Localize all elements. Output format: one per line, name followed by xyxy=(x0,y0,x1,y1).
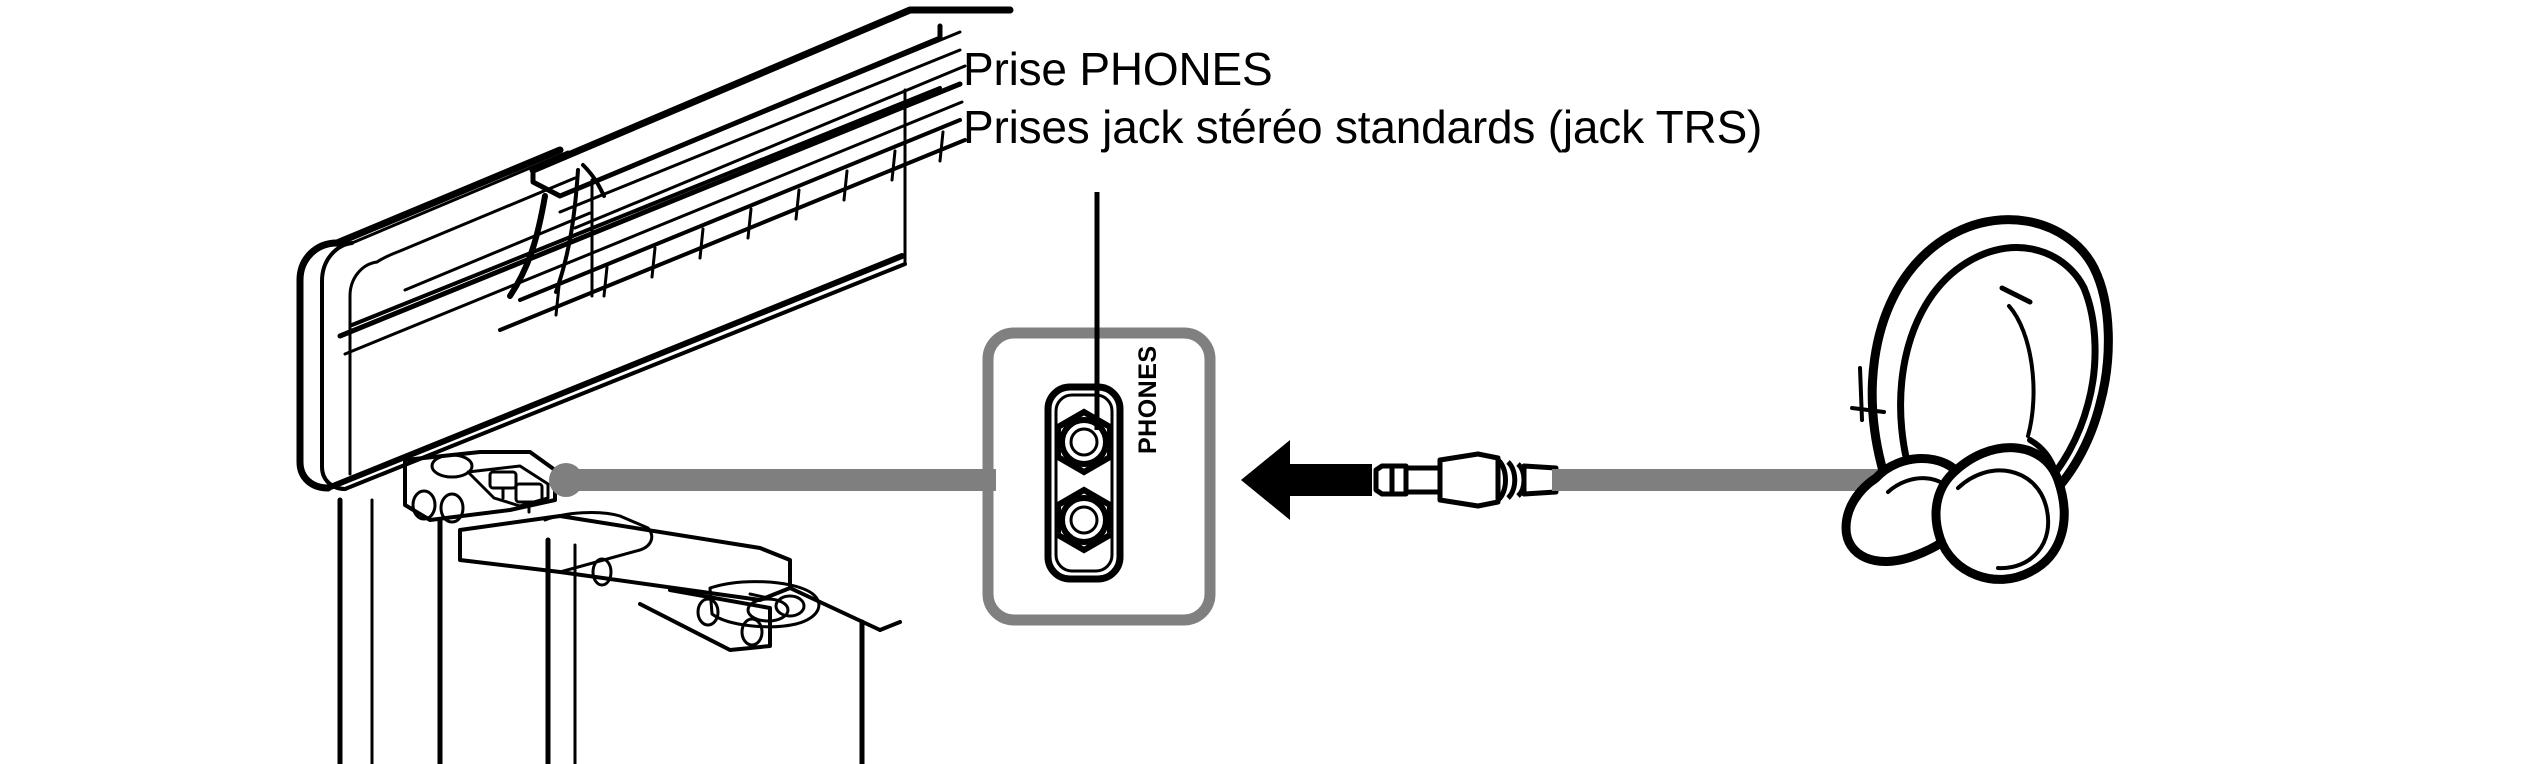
phones-panel xyxy=(978,333,1210,620)
earcup-right xyxy=(1936,448,2064,580)
insertion-arrow xyxy=(1241,440,1372,520)
callout-line-1: Prise PHONES xyxy=(963,40,1963,98)
headphone-cable-right-segment xyxy=(1552,469,1892,491)
piano-key-slip xyxy=(340,84,962,354)
phones-jack-lower xyxy=(1058,490,1110,550)
piano-cabinet-body xyxy=(300,88,940,489)
trs-stereo-plug xyxy=(1376,454,1556,506)
stereo-headphones xyxy=(1846,220,2108,580)
callout-text-block: Prise PHONES Prises jack stéréo standard… xyxy=(963,40,1963,156)
phones-jack-label: PHONES xyxy=(1130,324,1166,454)
figure-canvas: Prise PHONES Prises jack stéréo standard… xyxy=(0,0,2521,764)
piano-mounting-bracket xyxy=(405,452,900,764)
headphone-cable-left-segment xyxy=(549,463,991,497)
phones-jack-upper xyxy=(1058,412,1110,472)
piano-bottom-board xyxy=(340,500,575,764)
digital-piano-illustration xyxy=(300,10,1010,764)
callout-line-2: Prises jack stéréo standards (jack TRS) xyxy=(963,98,1963,156)
